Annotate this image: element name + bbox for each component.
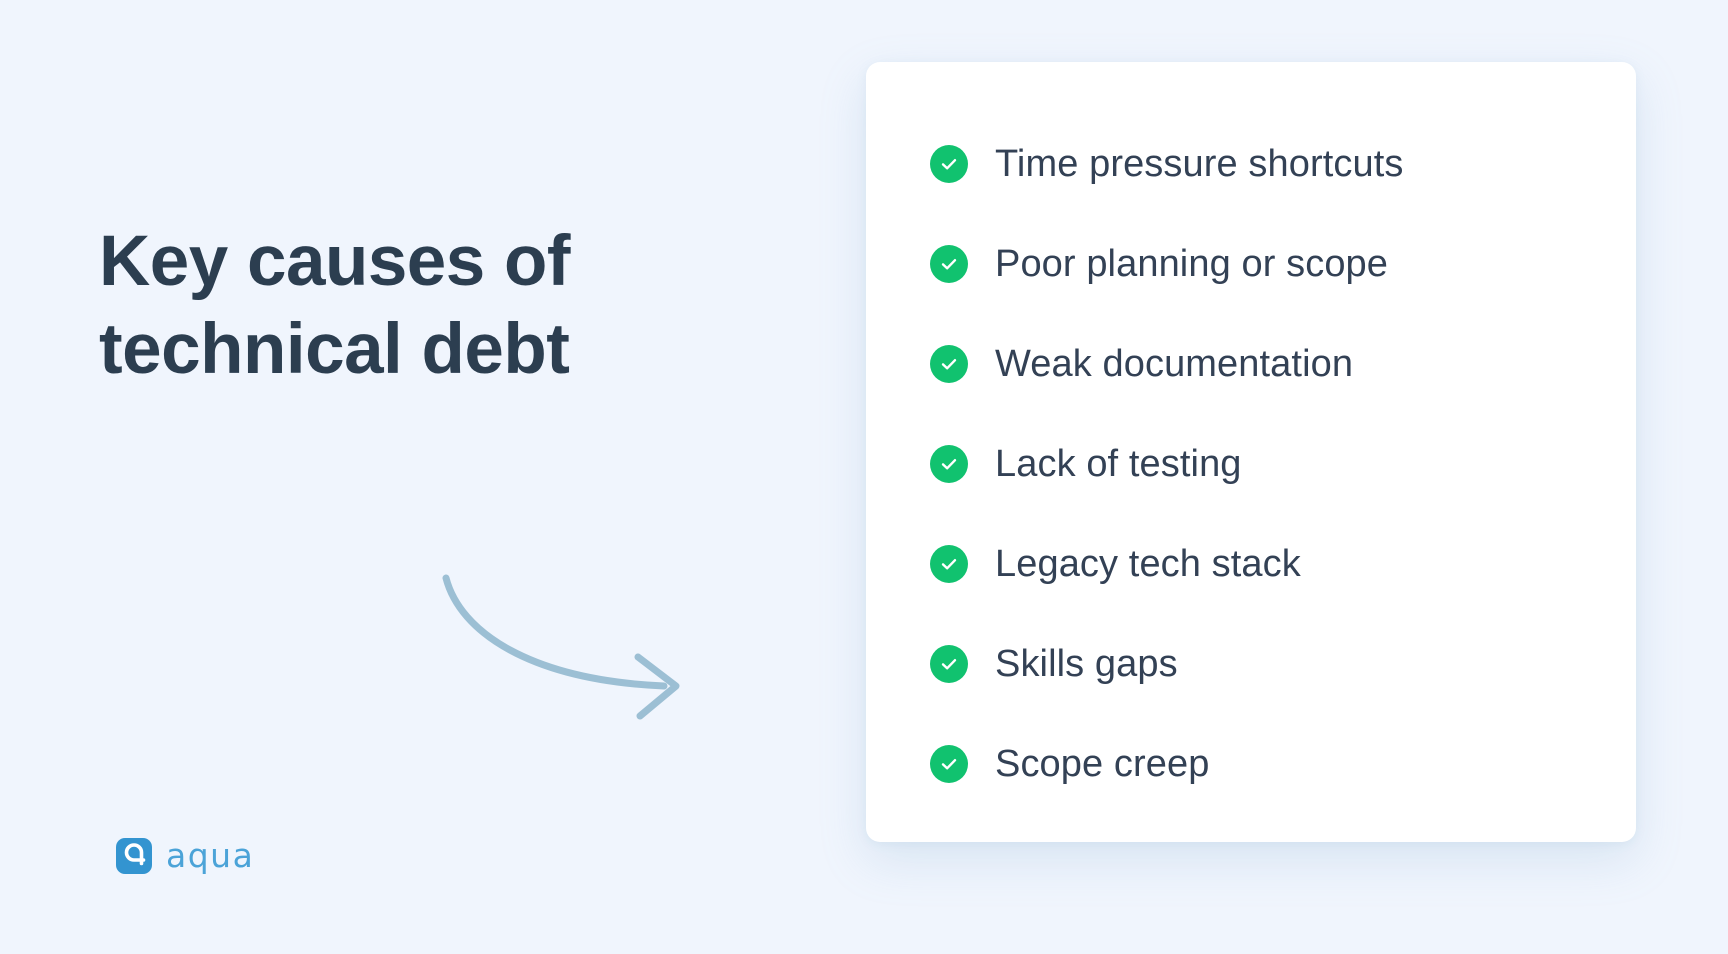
list-item-label: Time pressure shortcuts [995, 141, 1403, 187]
list-item-label: Scope creep [995, 741, 1209, 787]
list-item: Poor planning or scope [930, 214, 1596, 314]
list-item-label: Poor planning or scope [995, 241, 1388, 287]
page-title: Key causes of technical debt [99, 218, 739, 394]
list-item: Scope creep [930, 714, 1596, 814]
causes-card: Time pressure shortcuts Poor planning or… [866, 62, 1636, 842]
aqua-logo[interactable]: aqua [116, 838, 254, 874]
list-item-label: Weak documentation [995, 341, 1353, 387]
list-item: Weak documentation [930, 314, 1596, 414]
list-item-label: Lack of testing [995, 441, 1242, 487]
list-item-label: Legacy tech stack [995, 541, 1301, 587]
check-circle-icon [930, 745, 968, 783]
left-column: Key causes of technical debt aqua [0, 0, 866, 954]
aqua-wordmark: aqua [166, 838, 254, 874]
list-item: Legacy tech stack [930, 514, 1596, 614]
aqua-logo-mark-icon [116, 838, 152, 874]
list-item: Time pressure shortcuts [930, 114, 1596, 214]
check-circle-icon [930, 645, 968, 683]
check-circle-icon [930, 145, 968, 183]
check-circle-icon [930, 545, 968, 583]
list-item-label: Skills gaps [995, 641, 1178, 687]
list-item: Lack of testing [930, 414, 1596, 514]
infographic-canvas: Key causes of technical debt aqua [0, 0, 1728, 954]
list-item: Skills gaps [930, 614, 1596, 714]
curved-arrow-right-icon [420, 560, 780, 720]
causes-list: Time pressure shortcuts Poor planning or… [930, 114, 1596, 814]
curved-arrow [420, 560, 780, 720]
check-circle-icon [930, 445, 968, 483]
check-circle-icon [930, 245, 968, 283]
check-circle-icon [930, 345, 968, 383]
